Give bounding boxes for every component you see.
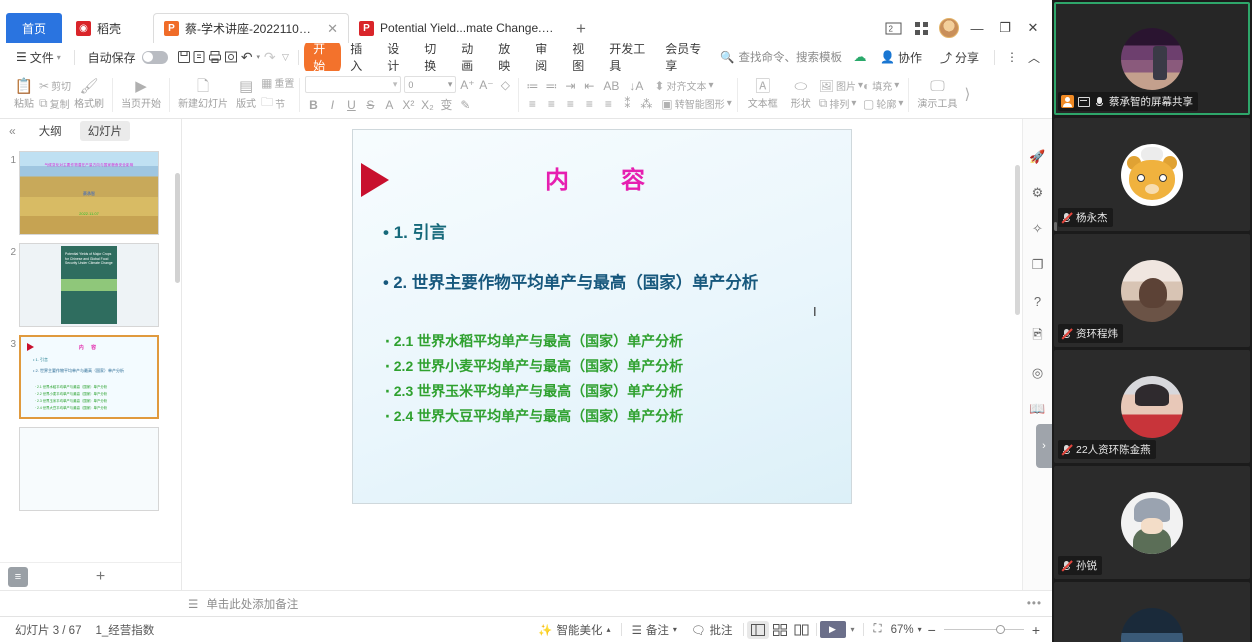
participants-scrollbar[interactable] [1054,222,1057,231]
start-from-current-button[interactable]: ▶ 当页开始 [118,79,164,110]
slide-bullet-1: 1. 引言 [383,218,447,243]
text-cursor-icon: I [813,304,814,320]
print-icon[interactable] [207,47,223,67]
layout-icon: ▤ [239,79,253,94]
section-label: 节 [275,96,285,111]
tab-outline[interactable]: 大纲 [31,121,70,141]
participant-name: 22人资环陈金燕 [1076,442,1151,457]
thumb3-sub2: 2.2 世界小麦平均单产与最高（国家）单产分析 [35,391,149,396]
thumb3-sub4: 2.4 世界大豆平均单产与最高（国家）单产分析 [35,405,149,410]
redo-icon[interactable]: ↷ [262,47,278,67]
file-menu-label: 文件 [30,49,54,66]
font-size-value: 0 [408,80,413,90]
align-text-button[interactable]: ⬍ 对齐文本 ▾ [654,78,713,93]
paste-button[interactable]: 📋 粘贴 [9,79,39,110]
notes-icon: ☰ [188,597,198,611]
shrink-font-button[interactable]: A⁻ [478,78,494,92]
print-preview-icon[interactable] [223,47,239,67]
highlight-button[interactable]: ✎ [457,98,473,112]
tab-outline-label: 大纲 [39,126,62,138]
status-bar: 幻灯片 3 / 67 1_经营指数 ✨ 智能美化 ▴ ☰ 备注 ▾ 🗨 批注 [0,616,1052,642]
align-center-icon: ≡ [548,97,555,111]
slide-thumbnail-2[interactable]: Potential Yields of Major Crops for Chin… [19,243,159,327]
section-button[interactable]: 🗀 节 [261,93,294,114]
add-slide-button[interactable]: + [28,568,173,586]
align-center-button[interactable]: ≡ [543,97,559,111]
theme-name[interactable]: 1_经营指数 [88,622,161,638]
participant-label: 杨永杰 [1058,208,1113,227]
search-placeholder: 查找命令、搜索模板 [739,49,843,65]
ribbon-group-font: ▾ 0 ▾ A⁺ A⁻ ◇ B I U S [300,73,518,117]
cloud-sync-icon[interactable]: ☁ [850,47,870,67]
shape-button[interactable]: ⬭ 形状 [783,79,819,110]
distribute-icon: ≡ [605,97,612,111]
align-text-icon: ⬍ [654,79,664,93]
ribbon-toolbar: 📋 粘贴 ✂ 剪切 ⧉ 复制 🖌 格式刷 [0,71,1052,119]
meeting-participants-sidebar: 蔡承智的屏幕共享 杨永杰 资环程炜 22人 [1052,0,1252,642]
thumb3-sub1: 2.1 世界水稻平均单产与最高（国家）单产分析 [35,384,149,389]
slideshow-dropdown-icon[interactable]: ▾ [846,625,860,634]
ribbon-tab-insert-label: 插入 [350,42,362,73]
numbering-button[interactable]: ≕ [543,79,559,93]
zoom-slider[interactable] [944,629,1024,631]
collapse-panel-icon: « [9,124,16,138]
thumb1-author: 蔡承智 [20,191,158,197]
copy-slide-icon[interactable]: ❐ [1028,255,1048,275]
slide-thumbnail-1[interactable]: 气候变化对主要作物潜在产量方向与国家粮食安全影响 蔡承智 2022.11.07 [19,151,159,235]
chevron-down-icon: ▾ [448,79,453,90]
tab-home[interactable]: 首页 [6,13,62,43]
comment-icon: 🗨 [691,623,706,637]
ribbon-tab-transition-label: 切换 [424,42,436,73]
ribbon-overflow-button[interactable]: ⟩ [960,87,974,102]
ribbon-tab-start-label: 开始 [313,42,325,73]
mic-off-icon [1061,560,1072,572]
thumb2-title: Potential Yields of Major Crops for Chin… [65,252,113,266]
reset-button[interactable]: ▦ 重置 [261,75,294,90]
smart-beautify-button[interactable]: ✨ 智能美化 ▴ [531,622,617,638]
notes-toggle-button[interactable]: ☰ 备注 ▾ [625,622,684,638]
play-icon: ▶ [829,624,836,635]
tab-pdf-label: Potential Yield...mate Change.pdf [380,21,554,35]
thumb3-sub3: 2.3 世界玉米平均单产与最高（国家）单产分析 [35,398,149,403]
notes-more-icon: ••• [1027,598,1042,610]
ribbon-group-clipboard: 📋 粘贴 ✂ 剪切 ⧉ 复制 🖌 格式刷 [4,73,112,117]
magic-design-icon[interactable]: ✧ [1028,219,1048,239]
slide-subbullet-4: 2.4 世界大豆平均单产与最高（国家）单产分析 [385,406,683,426]
new-tab-button[interactable]: + [564,19,598,43]
participant-label: 蔡承智的屏幕共享 [1058,92,1198,111]
minimize-icon: — [971,21,984,36]
list-item[interactable]: 1 气候变化对主要作物潜在产量方向与国家粮食安全影响 蔡承智 2022.11.0… [0,147,181,239]
view-normal-button[interactable] [747,621,769,639]
bold-icon: B [309,98,318,112]
bullets-button[interactable]: ≔ [524,79,540,93]
chevron-right-icon: › [1042,440,1046,452]
picture-icon: 🖼 [819,79,834,93]
slide-thumbnail-3[interactable]: 内 容 1. 引言 2. 世界主要作物平均单产与最高（国家）单产分析 2.1 世… [19,335,159,419]
format-painter-icon: 🖌 [80,79,99,94]
overflow-icon: ⟩ [964,87,970,102]
align-left-button[interactable]: ≡ [524,97,540,111]
thumb3-line2: 2. 世界主要作物平均单产与最高（国家）单产分析 [33,368,149,374]
avatar [1121,376,1183,438]
close-window-icon: ✕ [1028,20,1039,36]
more-options-icon: ⋮ [1006,50,1018,64]
notes-toggle-icon: ☰ [632,623,642,637]
thumbnail-panel-header: « 大纲 幻灯片 [0,119,181,143]
notes-placeholder: 单击此处添加备注 [206,596,298,612]
picture-button[interactable]: 🖼 图片 ▾ [819,78,863,93]
collaborate-icon: 👤 [880,50,895,64]
participant-tile-presenter[interactable]: 蔡承智的屏幕共享 [1054,2,1250,115]
slide-thumbnail-4[interactable] [19,427,159,511]
underline-icon: U [347,98,356,112]
textbox-button[interactable]: 🄰 文本框 [743,79,783,110]
chevron-down-icon: ▾ [918,625,922,634]
superscript-button[interactable]: X² [400,98,416,112]
mic-off-icon [1061,212,1072,224]
paste-icon: 📋 [15,79,34,94]
participant-name: 杨永杰 [1076,210,1108,225]
ppt-icon: P [164,21,179,36]
play-circle-icon: ▶ [135,79,147,94]
present-tools-icon: 🖵 [930,79,944,94]
avatar[interactable] [936,17,962,39]
ribbon-group-paragraph: ≔ ≕ ⇥ ⇤ AB ↓A ⬍ 对齐文本 ▾ ≡ ≡ [519,73,736,117]
slider-settings-icon[interactable]: ⚙ [1028,183,1048,203]
ribbon-tab-animation-label: 动画 [461,42,473,73]
participant-label: 资环程炜 [1058,324,1123,343]
restore-icon: ❐ [999,20,1011,36]
textbox-icon: 🄰 [755,79,770,94]
justify-button[interactable]: ≡ [581,97,597,111]
chevron-down-icon: ▾ [894,80,899,91]
resource-icon[interactable]: ◎ [1028,363,1048,383]
share-button[interactable]: ⤴ 分享 [932,46,987,68]
distribute-button[interactable]: ≡ [600,97,616,111]
comment-label: 批注 [710,622,733,638]
fill-button[interactable]: ◐ 填充 ▾ [863,78,903,93]
list-item[interactable] [0,423,181,515]
autosave-switch-icon[interactable] [142,51,168,64]
shape-label: 形状 [791,95,811,110]
list-spacing-button[interactable]: ⁂ [638,97,654,111]
ribbon-tab-review-label: 审阅 [535,42,547,73]
slide-counter: 幻灯片 3 / 67 [8,622,88,638]
tab-pdf-document[interactable]: P Potential Yield...mate Change.pdf [349,13,564,43]
tab-daoke[interactable]: ◉ 稻壳 [66,13,131,43]
numbering-icon: ≕ [545,79,557,93]
ribbon-tab-slideshow-label: 放映 [498,42,510,73]
fill-icon: ◐ [863,79,870,93]
close-window-button[interactable]: ✕ [1020,17,1046,39]
text-color-icon: A [385,98,393,112]
arrange-button[interactable]: ⧉ 排列 ▾ [819,96,863,111]
avatar [1121,144,1183,206]
document-tab-strip: 首页 ◉ 稻壳 P 蔡-学术讲座-20221107.ppt ✕ P Potent… [0,0,1052,43]
theme-name-label: 1_经营指数 [95,622,154,638]
search-icon: 🔍 [720,50,734,64]
text-direction-button[interactable]: AB [600,79,622,93]
share-icon: ⤴ [940,49,952,66]
notes-bar[interactable]: ☰ 单击此处添加备注 ••• [0,590,1052,616]
slide-subbullet-3: 2.3 世界玉米平均单产与最高（国家）单产分析 [385,381,683,401]
decrease-indent-icon: ⇥ [565,79,575,93]
panel-menu-icon: ≡ [15,571,21,583]
menu-bar: ☰ 文件 ▾ 自动保存 ↶ ▾ ↷ ▽ [0,43,1052,71]
chevron-down-icon: ▾ [727,98,732,109]
chevron-down-icon: ▾ [851,98,856,109]
align-right-button[interactable]: ≡ [562,97,578,111]
participant-name: 孙锐 [1076,558,1097,573]
right-tool-rail: 🚀 ⚙ ✧ ❐ ? 🖻 ◎ 📖 [1022,119,1052,590]
restore-button[interactable]: ❐ [992,17,1018,39]
start-slideshow-button[interactable]: ▶ [820,621,846,638]
layout-label: 版式 [236,95,256,110]
collaborate-label: 协作 [898,49,922,66]
smartart-label: 转智能图形 [675,96,725,111]
beautify-label: 智能美化 [557,622,603,638]
participant-tile-3[interactable]: 22人资环陈金燕 [1054,350,1250,463]
zoom-out-icon: − [928,622,936,638]
italic-button[interactable]: I [324,98,340,112]
mic-on-icon [1094,96,1105,108]
strikethrough-button[interactable]: S [362,98,378,112]
ribbon-group-insert: 🄰 文本框 ⬭ 形状 🖼 图片 ▾ ⧉ 排列 ▾ [738,73,909,117]
thumbnail-panel-footer: ≡ + [0,562,181,590]
line-spacing-button[interactable]: ↓A [625,79,647,93]
rocket-icon[interactable]: 🚀 [1028,147,1048,167]
zoom-out-button[interactable]: − [924,622,940,638]
editor-workarea: « 大纲 幻灯片 1 气候变化对主要作物潜在产量方向与国家粮食安全影响 蔡承智 … [0,119,1052,590]
collapse-panel-button[interactable]: « [4,124,21,138]
outline-button[interactable]: ▢ 轮廓 ▾ [863,96,903,111]
italic-icon: I [331,98,334,112]
zoom-in-button[interactable]: + [1028,622,1044,638]
undo-dropdown-icon[interactable]: ▾ [255,47,262,67]
autosave-label: 自动保存 [88,49,136,66]
tab-daoke-label: 稻壳 [97,20,121,37]
minimize-button[interactable]: — [964,17,990,39]
view-sorter-button[interactable] [769,621,791,639]
ribbon-group-tools: 🖵 演示工具 ⟩ [909,73,979,117]
chevron-down-icon: ▾ [57,53,61,62]
beautify-icon: ✨ [538,623,552,637]
smartart-icon: ▣ [661,97,672,111]
tab-home-label: 首页 [22,20,46,37]
justify-icon: ≡ [586,97,593,111]
reset-icon: ▦ [261,76,272,90]
cut-button[interactable]: ✂ 剪切 [39,78,71,93]
grow-font-icon: A⁺ [460,78,474,92]
superscript-icon: X² [402,98,414,112]
shape-icon: ⬭ [794,79,807,94]
copy-button[interactable]: ⧉ 复制 [39,96,71,111]
tab-ppt-document[interactable]: P 蔡-学术讲座-20221107.ppt ✕ [153,13,349,43]
text-color-button[interactable]: A [381,98,397,112]
book-cover-image: Potential Yields of Major Crops for Chin… [61,246,117,324]
ribbon-group-slides: 🗋 新建幻灯片 ▤ 版式 ▦ 重置 🗀 节 [170,73,299,117]
grow-font-button[interactable]: A⁺ [459,78,475,92]
collapse-ribbon-icon: ︿ [1028,49,1040,66]
new-tab-label: + [576,19,586,38]
host-icon [1061,95,1074,108]
line-spacing-icon: ↓A [629,79,643,93]
list-level-button[interactable]: ⁑ [619,97,635,111]
new-slide-button[interactable]: 🗋 新建幻灯片 [175,79,231,110]
participant-tile-5[interactable] [1054,582,1250,642]
grid-view-icon[interactable] [908,17,934,39]
thumbnail-number: 2 [2,243,16,258]
export-pdf-icon[interactable] [191,47,207,67]
hamburger-icon: ☰ [16,50,27,64]
menubar-right-controls: ☁ 👤 协作 ⤴ 分享 ⋮ ︿ [850,46,1052,68]
more-options-button[interactable]: ⋮ [1002,47,1022,67]
copy-icon: ⧉ [39,96,48,111]
present-tools-button[interactable]: 🖵 演示工具 [914,79,960,110]
arrange-label: 排列 [829,96,849,111]
change-case-icon: 变 [440,98,452,112]
thumbnail-list[interactable]: 1 气候变化对主要作物潜在产量方向与国家粮食安全影响 蔡承智 2022.11.0… [0,143,181,562]
avatar [1121,28,1183,90]
ribbon-tab-design-label: 设计 [387,42,399,73]
copy-label: 复制 [50,96,70,111]
avatar [1121,492,1183,554]
chevron-down-icon: ▾ [898,98,903,109]
align-text-label: 对齐文本 [666,78,706,93]
ribbon-tab-devtools-label: 开发工具 [609,42,645,73]
participant-label: 孙锐 [1058,556,1102,575]
wps-presentation-window: 首页 ◉ 稻壳 P 蔡-学术讲座-20221107.ppt ✕ P Potent… [0,0,1052,642]
arrange-icon: ⧉ [819,96,828,111]
autosave-toggle[interactable]: 自动保存 [80,46,176,68]
slide-title: 内 容 [353,160,851,195]
chevron-up-icon: ▴ [607,625,611,634]
change-case-button[interactable]: 变 [438,96,454,113]
start-here-label: 当页开始 [121,95,161,110]
fill-label: 填充 [872,78,892,93]
canvas-scrollbar[interactable] [1015,125,1020,584]
font-size-input[interactable]: 0 ▾ [404,76,456,93]
svg-text:2: 2 [888,24,893,33]
chevron-down-icon: ▾ [393,79,398,90]
outline-icon: ▢ [863,97,874,111]
help-icon[interactable]: ? [1028,291,1048,311]
slide-subbullet-2: 2.2 世界小麦平均单产与最高（国家）单产分析 [385,356,683,376]
thumb1-date: 2022.11.07 [20,211,158,216]
participant-tile-1[interactable]: 杨永杰 [1054,118,1250,231]
format-painter-button[interactable]: 🖌 格式刷 [71,79,107,110]
undo-icon[interactable]: ↶ [239,47,255,67]
tab-ppt-label: 蔡-学术讲座-20221107.ppt [185,20,315,37]
save-icon[interactable] [176,47,192,67]
ribbon-tab-member-label: 会员专享 [665,42,701,73]
font-name-input[interactable]: ▾ [305,76,401,93]
fit-to-window-button[interactable]: ⛶ [867,623,889,636]
participant-tile-4[interactable]: 孙锐 [1054,466,1250,579]
increase-indent-button[interactable]: ⇤ [581,79,597,93]
tab-slides-label: 幻灯片 [88,126,123,138]
page-count-icon[interactable]: 2 [880,17,906,39]
current-slide[interactable]: 内 容 1. 引言 2. 世界主要作物平均单产与最高（国家）单产分析 2.1 世… [352,129,852,504]
list-item[interactable]: 3 内 容 1. 引言 2. 世界主要作物平均单产与最高（国家）单产分析 2.1… [0,331,181,423]
new-slide-icon: 🗋 [197,79,209,94]
chevron-down-icon: ▾ [708,80,713,91]
thumbnail-number: 1 [2,151,16,166]
avatar [1121,260,1183,322]
customize-quickaccess-icon[interactable]: ▽ [278,47,294,67]
collapse-ribbon-button[interactable]: ︿ [1024,47,1044,67]
slide-canvas[interactable]: 内 容 1. 引言 2. 世界主要作物平均单产与最高（国家）单产分析 2.1 世… [182,119,1022,590]
subscript-button[interactable]: X₂ [419,98,435,112]
notes-toggle-label: 备注 [646,622,669,638]
bold-button[interactable]: B [305,98,321,112]
zoom-slider-knob[interactable] [996,625,1005,634]
zoom-in-icon: + [1032,622,1040,638]
tab-slides[interactable]: 幻灯片 [80,121,131,141]
cut-label: 剪切 [51,78,71,93]
collaborate-button[interactable]: 👤 协作 [872,46,930,68]
clear-format-button[interactable]: ◇ [497,78,513,92]
highlight-icon: ✎ [460,98,470,112]
increase-indent-icon: ⇤ [584,79,594,93]
strikethrough-icon: S [366,98,374,112]
reset-label: 重置 [274,75,294,90]
thumbnail-scrollbar[interactable] [175,173,180,283]
align-left-icon: ≡ [529,97,536,111]
rail-expand-button[interactable]: › [1036,424,1052,468]
ribbon-tab-view-label: 视图 [572,42,584,73]
panel-menu-button[interactable]: ≡ [8,567,28,587]
picture-label: 图片 [836,78,856,93]
section-icon: 🗀 [261,93,273,114]
image-tools-icon[interactable]: 🖻 [1028,327,1048,347]
mic-off-icon [1061,444,1072,456]
convert-smartart-button[interactable]: ▣ 转智能图形 ▾ [661,96,731,111]
textbox-label: 文本框 [748,95,778,110]
notes-more-button[interactable]: ••• [1027,598,1052,610]
shrink-font-icon: A⁻ [479,78,493,92]
reading-icon[interactable]: 📖 [1028,399,1048,419]
add-slide-icon: + [96,568,105,585]
search-input[interactable]: 🔍 查找命令、搜索模板 [712,46,850,68]
new-slide-label: 新建幻灯片 [178,95,228,110]
zoom-level-label: 67% [891,624,914,636]
list-item[interactable]: 2 Potential Yields of Major Crops for Ch… [0,239,181,331]
participant-tile-2[interactable]: 资环程炜 [1054,234,1250,347]
thumb1-title: 气候变化对主要作物潜在产量方向与国家粮食安全影响 [26,163,153,168]
zoom-level[interactable]: 67% ▾ [889,624,924,636]
close-icon[interactable]: ✕ [327,21,338,37]
format-painter-label: 格式刷 [74,95,104,110]
thumbnail-number: 3 [2,335,16,350]
layout-button[interactable]: ▤ 版式 [231,79,261,110]
fit-icon: ⛶ [874,623,882,636]
view-reading-button[interactable] [791,621,813,639]
comment-button[interactable]: 🗨 批注 [684,622,740,638]
clear-format-icon: ◇ [501,78,510,92]
file-menu-button[interactable]: ☰ 文件 ▾ [8,46,69,68]
underline-button[interactable]: U [343,98,359,112]
decrease-indent-button[interactable]: ⇥ [562,79,578,93]
participant-name: 蔡承智的屏幕共享 [1109,94,1193,109]
tabstrip-right-controls: 2 — ❐ ✕ [880,17,1052,43]
participant-name: 资环程炜 [1076,326,1118,341]
outline-label: 轮廓 [876,96,896,111]
slide-counter-label: 幻灯片 3 / 67 [15,622,81,638]
cut-icon: ✂ [39,79,49,93]
